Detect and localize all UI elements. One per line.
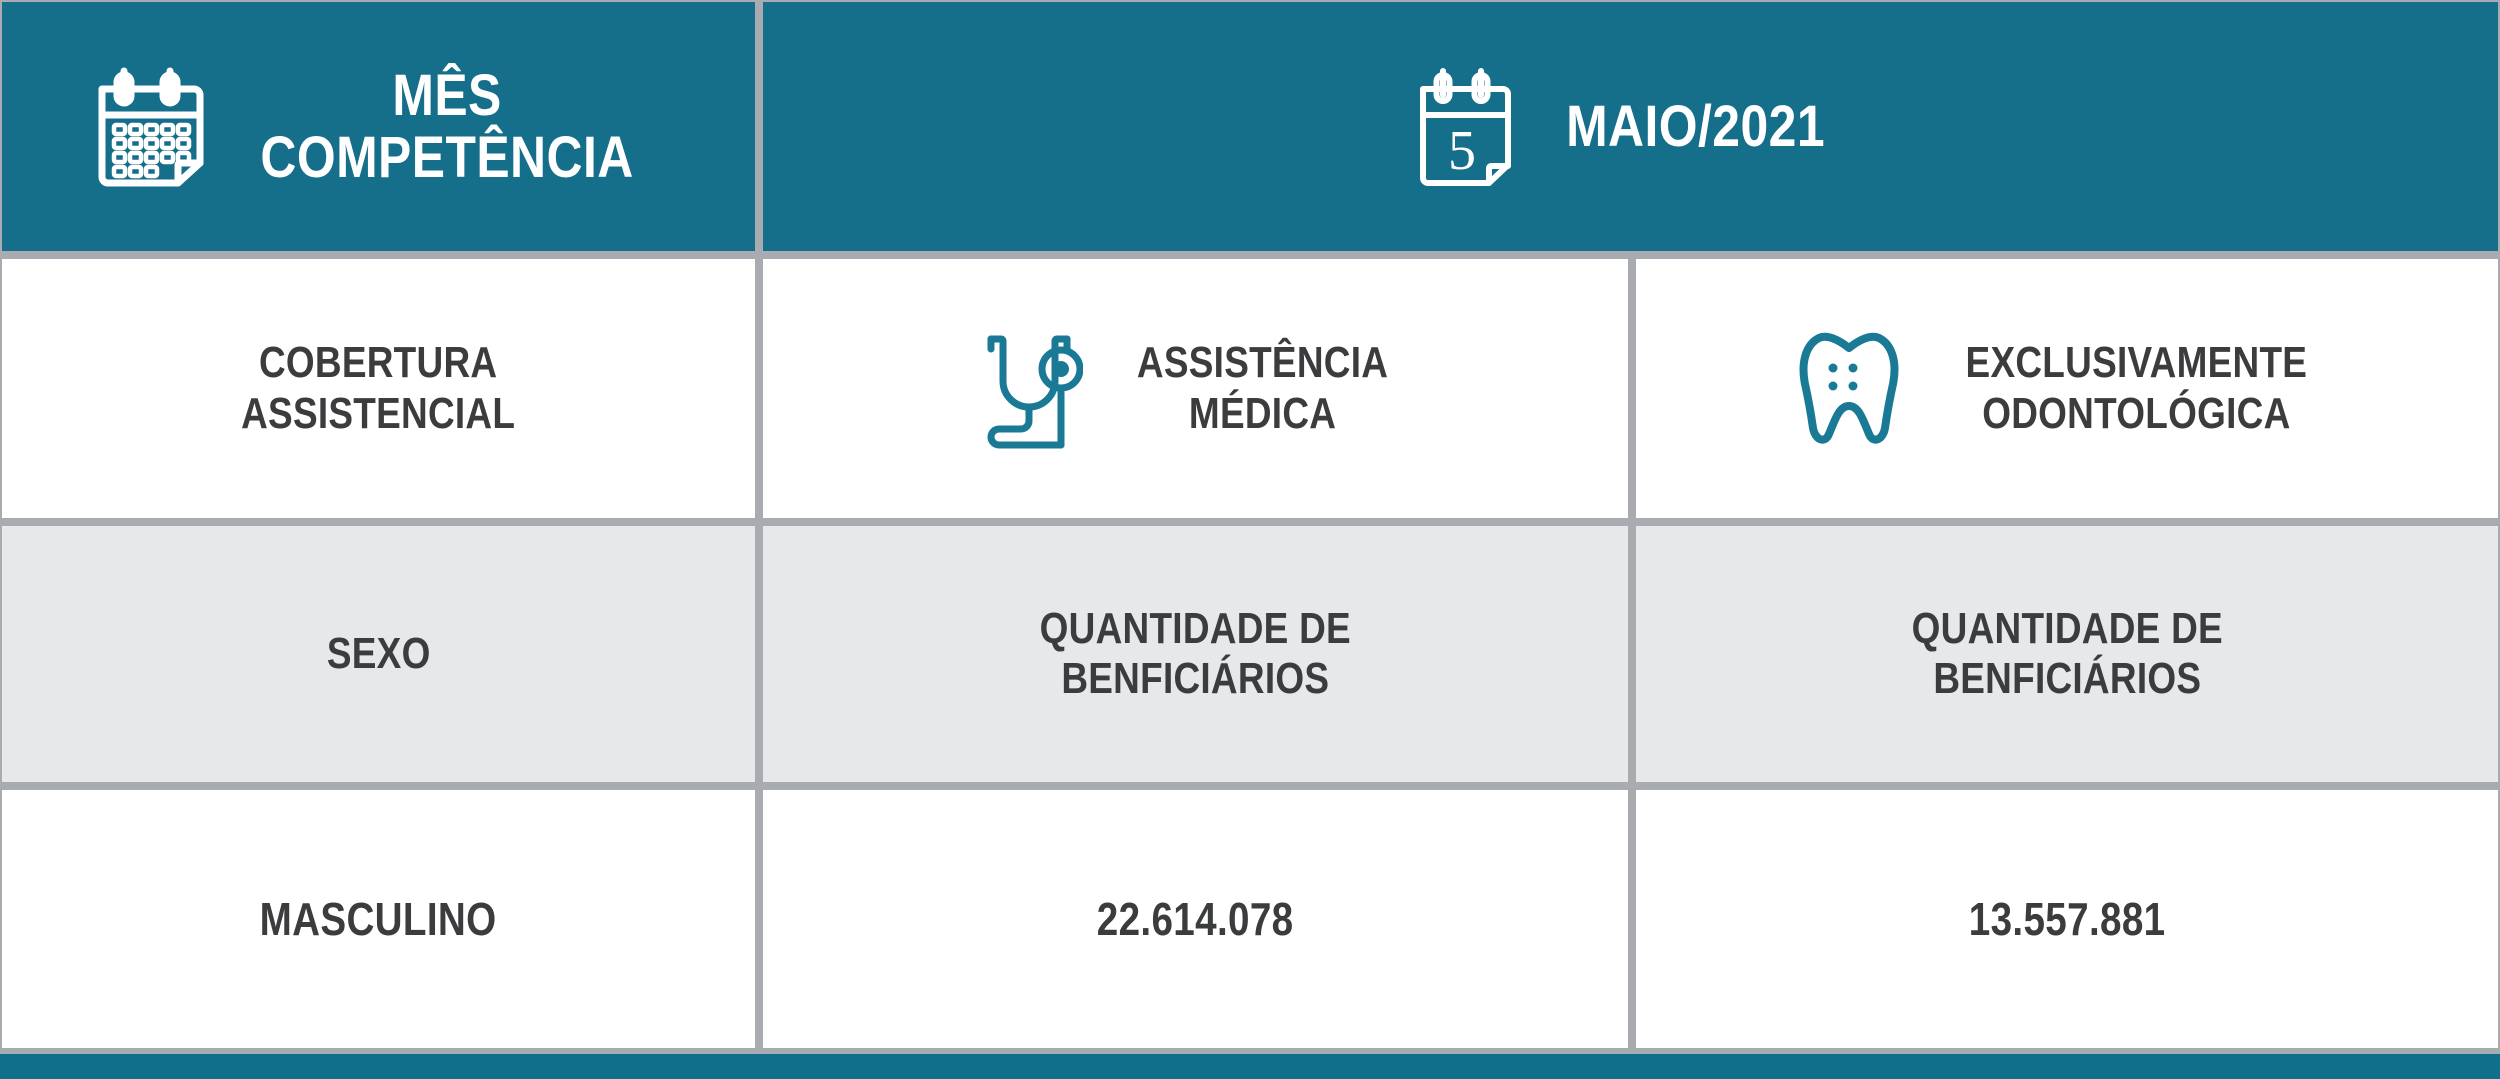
- coverage-col-medical-label: ASSISTÊNCIA MÉDICA: [1137, 338, 1388, 438]
- header-cell-period-label: MÊS COMPETÊNCIA: [2, 2, 755, 251]
- coverage-col-dental-cell: EXCLUSIVAMENTE ODONTOLÓGICA: [1636, 259, 2498, 518]
- column-header-sexo-label: SEXO: [327, 629, 431, 679]
- coverage-col-medical-cell: ASSISTÊNCIA MÉDICA: [763, 259, 1628, 518]
- column-header-sexo: SEXO: [2, 526, 755, 782]
- table-cell-medical-count: 22.614.078: [763, 790, 1628, 1048]
- bottom-accent-bar: [0, 1054, 2500, 1079]
- coverage-row-label: COBERTURA ASSISTENCIAL: [241, 338, 515, 438]
- cell-value: 22.614.078: [1097, 892, 1294, 946]
- period-value: MAIO/2021: [1566, 96, 1825, 157]
- stethoscope-icon: [979, 329, 1083, 449]
- header-cell-period-value: 5 MAIO/2021: [763, 2, 2498, 251]
- table-row-label-masculino: MASCULINO: [2, 790, 755, 1048]
- cell-value: 13.557.881: [1969, 892, 2166, 946]
- column-header-qtd-medical: QUANTIDADE DE BENFICIÁRIOS: [763, 526, 1628, 782]
- column-header-qtd-dental-label: QUANTIDADE DE BENFICIÁRIOS: [1911, 604, 2222, 704]
- row-label: MASCULINO: [260, 892, 497, 946]
- coverage-col-dental-label: EXCLUSIVAMENTE ODONTOLÓGICA: [1965, 338, 2307, 438]
- calendar-day-number: 5: [1448, 120, 1476, 182]
- column-header-qtd-medical-label: QUANTIDADE DE BENFICIÁRIOS: [1040, 604, 1351, 704]
- column-header-qtd-dental: QUANTIDADE DE BENFICIÁRIOS: [1636, 526, 2498, 782]
- calendar-icon: [92, 67, 204, 187]
- calendar-day-5-icon: 5: [1415, 67, 1511, 187]
- coverage-row-label-cell: COBERTURA ASSISTENCIAL: [2, 259, 755, 518]
- data-table: MÊS COMPETÊNCIA 5 MAIO/2021 COBERTURA A: [0, 0, 2500, 1079]
- period-label: MÊS COMPETÊNCIA: [261, 65, 634, 188]
- tooth-icon: [1795, 328, 1903, 450]
- table-cell-dental-count: 13.557.881: [1636, 790, 2498, 1048]
